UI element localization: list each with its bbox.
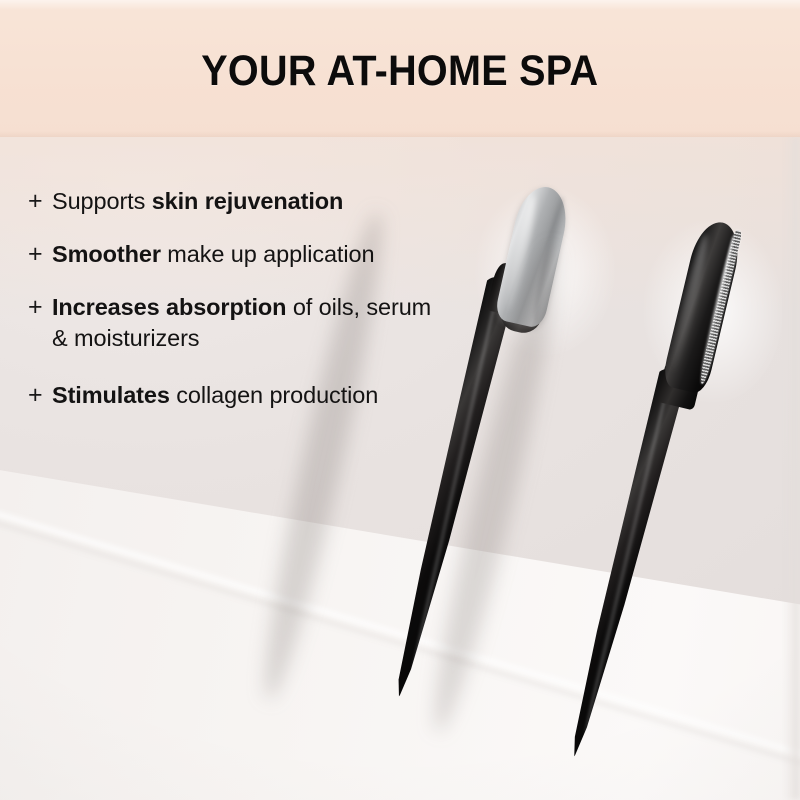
benefit-text-4: Stimulates collagen production <box>52 380 378 411</box>
plus-marker-icon: + <box>28 380 52 410</box>
benefits-list: + Supports skin rejuvenation + Smoother … <box>28 186 478 411</box>
benefit-1-normal-before: Supports <box>52 188 152 214</box>
header-banner: YOUR AT-HOME SPA <box>0 0 800 137</box>
plus-marker-icon: + <box>28 186 52 216</box>
benefit-item-4: + Stimulates collagen production <box>28 380 478 411</box>
benefit-3-bold: Increases absorption <box>52 294 286 320</box>
benefit-text-1: Supports skin rejuvenation <box>52 186 343 217</box>
benefit-3-line2: & moisturizers <box>52 325 199 351</box>
benefit-text-3: Increases absorption of oils, serum& moi… <box>52 292 431 354</box>
plus-marker-icon: + <box>28 239 52 269</box>
plus-marker-icon: + <box>28 292 52 322</box>
benefit-4-bold: Stimulates <box>52 382 170 408</box>
benefit-4-normal-after: collagen production <box>170 382 378 408</box>
dermaplaning-razor-right <box>500 220 760 780</box>
benefit-item-1: + Supports skin rejuvenation <box>28 186 478 217</box>
razor-right-handle-highlight <box>581 373 674 735</box>
benefit-2-bold: Smoother <box>52 241 161 267</box>
product-infographic-canvas: YOUR AT-HOME SPA + Supports skin rejuven… <box>0 0 800 800</box>
benefit-item-3: + Increases absorption of oils, serum& m… <box>28 292 478 354</box>
benefit-2-normal-after: make up application <box>161 241 375 267</box>
page-title: YOUR AT-HOME SPA <box>201 47 598 96</box>
benefit-item-2: + Smoother make up application <box>28 239 478 270</box>
benefit-1-bold: skin rejuvenation <box>152 188 344 214</box>
benefit-3-normal-after: of oils, serum <box>286 294 431 320</box>
benefit-text-2: Smoother make up application <box>52 239 374 270</box>
